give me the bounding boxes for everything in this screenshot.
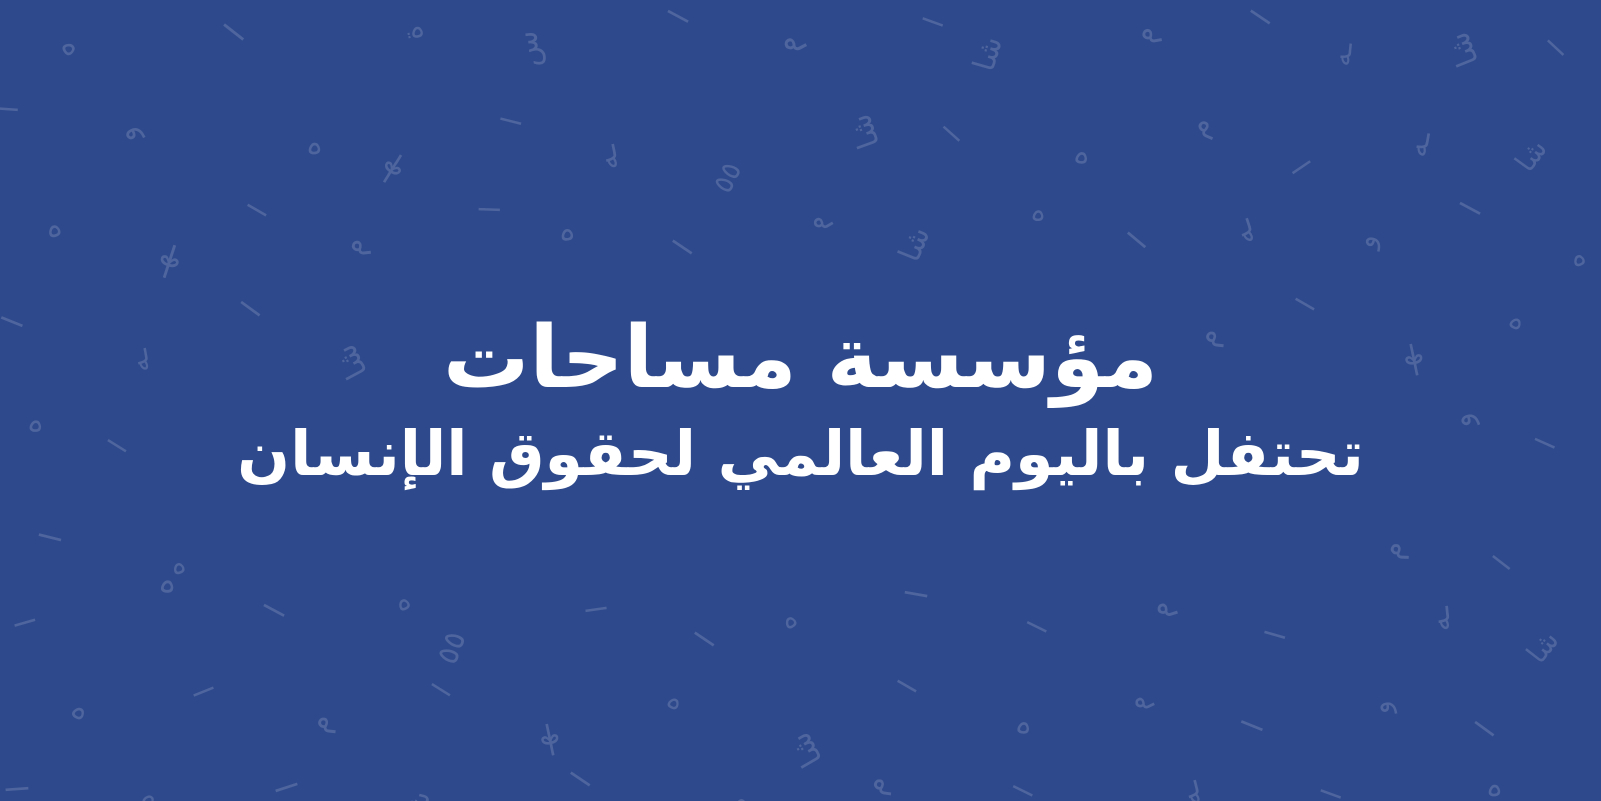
banner-content: مؤسسة مساحات تحتفل باليوم العالمي لحقوق … (0, 0, 1601, 801)
banner-root: ه ا ة س ا م ا شا م ا ـه شا ا ا و ه ـهـ ا… (0, 0, 1601, 801)
banner-headline: مؤسسة مساحات (443, 312, 1158, 405)
banner-subheadline: تحتفل باليوم العالمي لحقوق الإنسان (237, 419, 1364, 488)
